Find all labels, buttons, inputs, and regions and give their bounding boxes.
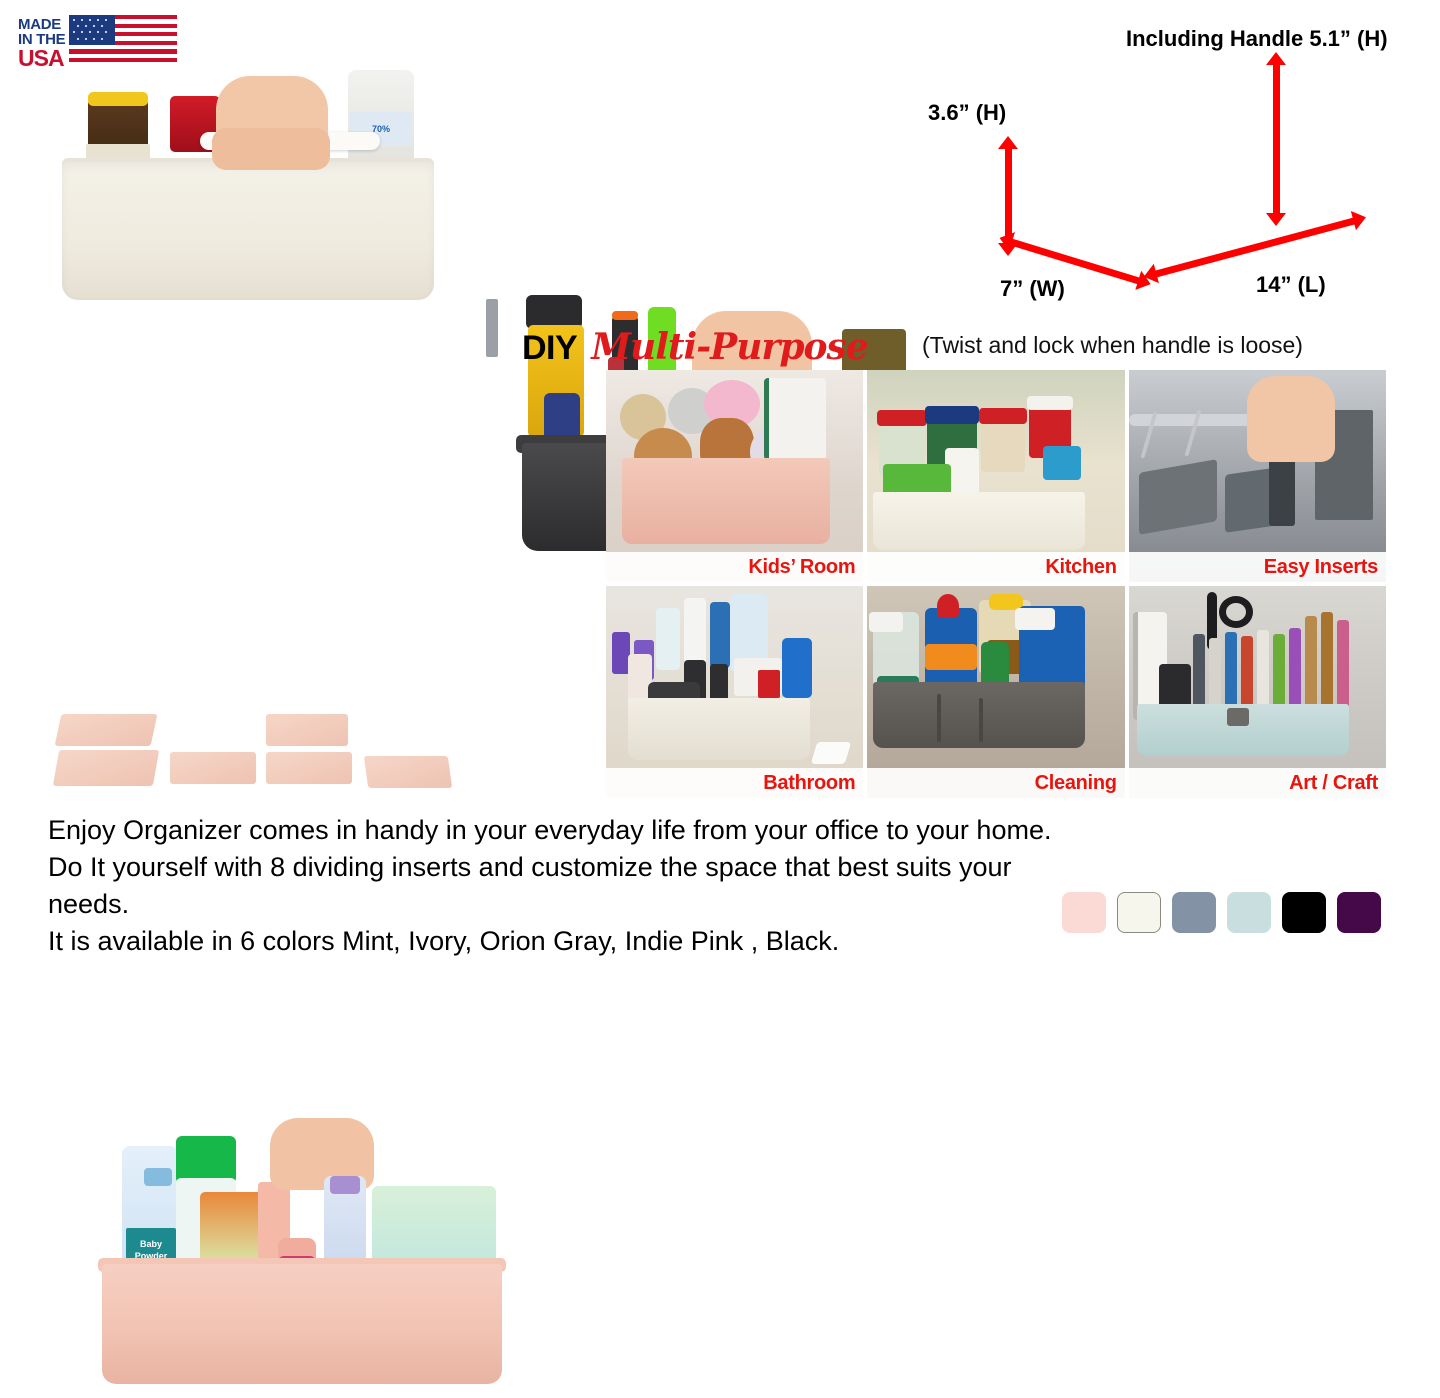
scene-kitchen: [867, 370, 1124, 582]
made-in-usa-badge: MADE IN THE USA: [18, 12, 208, 74]
jar-lid-teal: [1043, 446, 1081, 480]
badge-line-1: MADE: [18, 17, 65, 32]
usa-flag-icon: [69, 15, 177, 71]
usecase-cell-cleaning[interactable]: Cleaning: [867, 586, 1124, 798]
diy-label: DIY: [522, 329, 577, 368]
organizer-body: [62, 162, 434, 300]
toothbrush: [710, 602, 730, 668]
caliper: [486, 299, 498, 357]
scene-art-craft: [1129, 586, 1386, 798]
insert-plate: [55, 714, 158, 746]
divider: [937, 694, 941, 742]
jar-lid-red: [877, 410, 927, 426]
organizer-bin: [628, 698, 810, 760]
color-swatch-orion-gray[interactable]: [1172, 892, 1216, 933]
multi-purpose-label: Multi-Purpose: [591, 326, 868, 368]
dimension-length-label: 14” (L): [1256, 272, 1326, 298]
marker: [1241, 636, 1253, 714]
color-swatch-indie-pink[interactable]: [1062, 892, 1106, 933]
powder-cap: [144, 1168, 172, 1186]
insert-plate: [53, 750, 159, 786]
marker: [1193, 634, 1205, 712]
canister-lid: [1027, 396, 1073, 410]
book: [764, 378, 826, 460]
color-swatch-row: [1062, 892, 1381, 933]
usecase-cell-kitchen[interactable]: Kitchen: [867, 370, 1124, 582]
usecase-grid: Kids’ Room Kitchen: [606, 370, 1386, 798]
scene-bathroom: [606, 586, 863, 798]
clorox-label: [925, 644, 977, 670]
dimension-width-label: 7” (W): [1000, 276, 1065, 302]
scene-easy-inserts: [1129, 370, 1386, 582]
description-line-2: Do It yourself with 8 dividing inserts a…: [48, 849, 1068, 923]
bottle-cap-red: [937, 594, 959, 618]
spray-trigger: [1015, 608, 1055, 630]
pencil: [1337, 620, 1349, 710]
organizer-bin: [622, 458, 830, 544]
insert-plate: [364, 756, 452, 788]
description-line-1: Enjoy Organizer comes in handy in your e…: [48, 812, 1068, 849]
color-swatch-mint[interactable]: [1227, 892, 1271, 933]
dimension-handle-height-label: Including Handle 5.1” (H): [1126, 26, 1388, 52]
marker: [1257, 630, 1269, 714]
jar-lid-blue: [925, 406, 979, 424]
usecase-cell-art-craft[interactable]: Art / Craft: [1129, 586, 1386, 798]
color-swatch-ivory[interactable]: [1117, 892, 1161, 933]
description-block: Enjoy Organizer comes in handy in your e…: [48, 812, 1068, 960]
arrow-length: [1155, 217, 1356, 277]
color-swatch-purple[interactable]: [1337, 892, 1381, 933]
soap-dispenser: [782, 638, 812, 698]
divider-inserts-group: [48, 700, 498, 800]
usecase-cell-kids-room[interactable]: Kids’ Room: [606, 370, 863, 582]
green-tub: [176, 1136, 236, 1184]
made-in-usa-text: MADE IN THE USA: [18, 17, 65, 69]
pencil: [1305, 616, 1317, 710]
jar-lid-red: [979, 408, 1027, 424]
usecase-label-art-craft: Art / Craft: [1129, 768, 1386, 798]
hand: [1247, 376, 1335, 462]
photo-pink-baby-organizer: BabyPowder: [72, 1108, 542, 1398]
lotion-cap: [330, 1176, 360, 1194]
usecase-cell-bathroom[interactable]: Bathroom: [606, 586, 863, 798]
color-swatch-black[interactable]: [1282, 892, 1326, 933]
vitamin-cap: [88, 92, 148, 106]
red-box: [758, 670, 780, 698]
usecase-label-bathroom: Bathroom: [606, 768, 863, 798]
twist-lock-note: (Twist and lock when handle is loose): [922, 332, 1303, 359]
arrow-handle-height: [1273, 64, 1280, 214]
screwdriver-tip: [612, 311, 638, 320]
insert-plate: [266, 714, 348, 746]
insert-plate: [811, 742, 851, 764]
insert-plate: [266, 752, 352, 784]
usecase-label-kids-room: Kids’ Room: [606, 552, 863, 582]
usecase-label-easy-inserts: Easy Inserts: [1129, 552, 1386, 582]
pencil: [1321, 612, 1333, 710]
toothpaste: [656, 608, 680, 670]
scene-cleaning: [867, 586, 1124, 798]
marker: [1289, 628, 1301, 712]
divider-slot: [1139, 459, 1217, 535]
marker: [1209, 638, 1221, 714]
spray-trigger: [869, 612, 903, 632]
scene-kids-room: [606, 370, 863, 582]
handle-latch: [1227, 708, 1249, 726]
photo-white-organizer: 70% BAND-AID FLEXIBLE FABRIC BAND-AID: [48, 66, 448, 311]
description-line-3: It is available in 6 colors Mint, Ivory,…: [48, 923, 1068, 960]
usecase-label-kitchen: Kitchen: [867, 552, 1124, 582]
pink-organizer-body: [102, 1264, 502, 1384]
usecase-cell-easy-inserts[interactable]: Easy Inserts: [1129, 370, 1386, 582]
insert-plate: [170, 752, 256, 784]
organizer-bin: [873, 492, 1085, 550]
marker: [1225, 632, 1237, 714]
marker: [1273, 634, 1285, 714]
infographic-canvas: MADE IN THE USA: [0, 0, 1440, 960]
flashlight-head: [526, 295, 582, 329]
usecase-label-cleaning: Cleaning: [867, 768, 1124, 798]
diy-heading: DIY Multi-Purpose: [522, 326, 868, 368]
fingers: [212, 128, 330, 170]
scissors-handle: [1219, 596, 1253, 628]
dimension-height-label: 3.6” (H): [928, 100, 1006, 126]
divider: [979, 698, 983, 742]
